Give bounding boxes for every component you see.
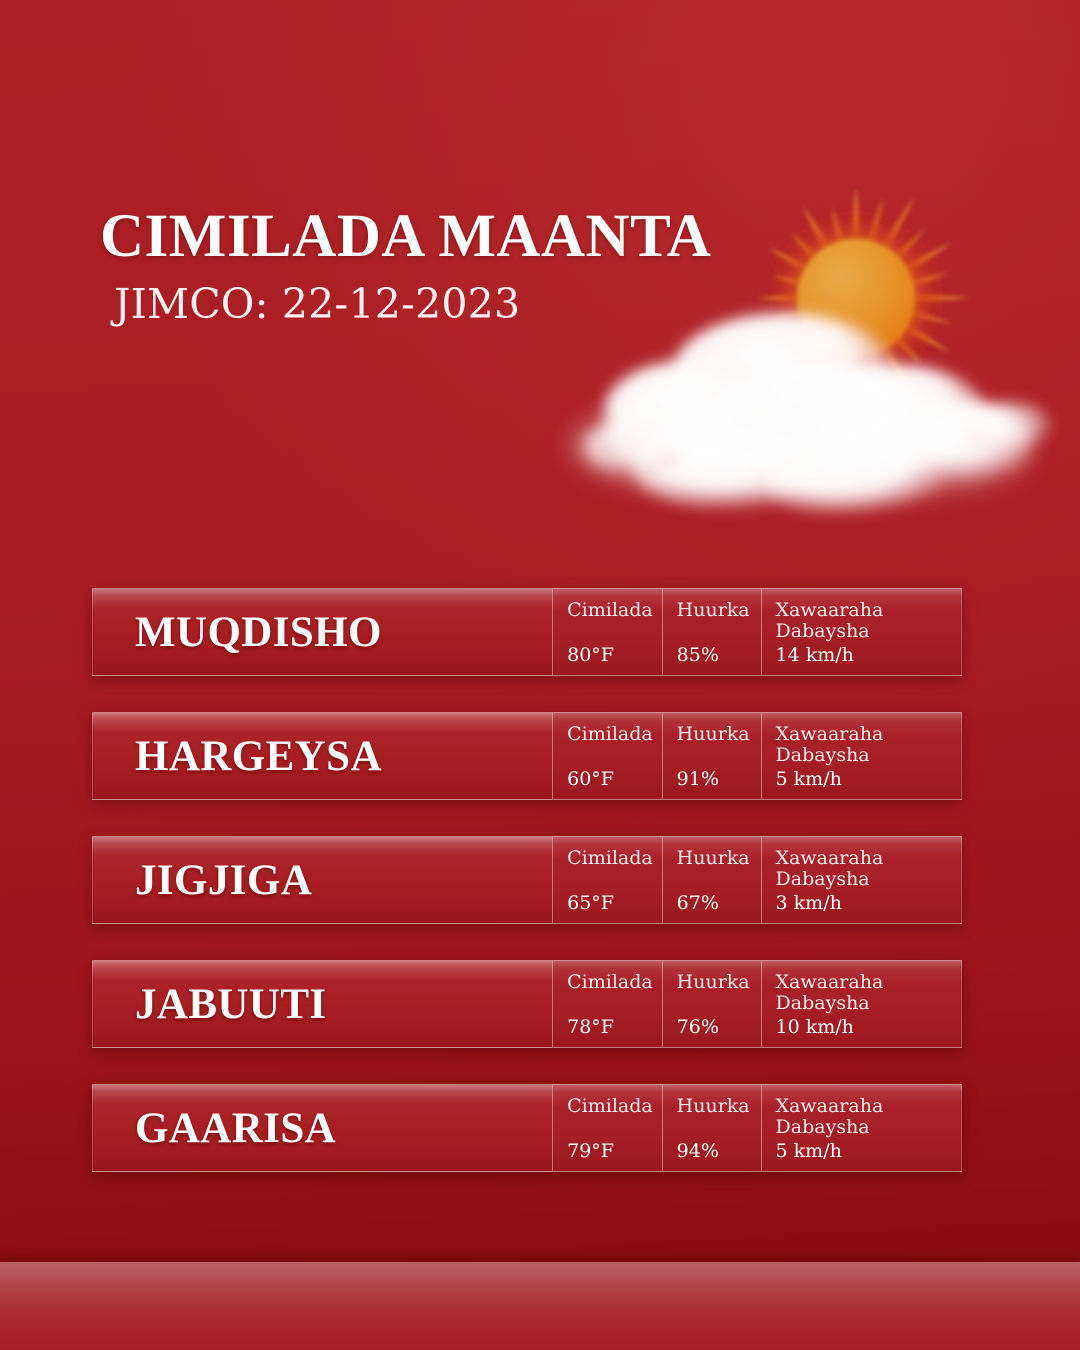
humidity-value: 85% [677,645,761,666]
temperature-cell: Cimilada 78°F [552,961,662,1047]
footer-band [0,1262,1080,1350]
wind-cell: Xawaaraha Dabaysha 3 km/h [761,837,961,923]
temperature-value: 65°F [567,893,662,914]
humidity-label: Huurka [677,848,761,869]
temperature-label: Cimilada [567,1096,662,1117]
wind-value: 10 km/h [776,1017,961,1038]
city-cell: JIGJIGA [92,836,552,924]
temperature-cell: Cimilada 60°F [552,713,662,799]
humidity-value: 67% [677,893,761,914]
weather-table: MUQDISHO Cimilada 80°F Huurka 85% Xawaar… [92,588,962,1172]
temperature-cell: Cimilada 79°F [552,1085,662,1171]
table-row[interactable]: GAARISA Cimilada 79°F Huurka 94% Xawaara… [92,1084,962,1172]
wind-label: Xawaaraha Dabaysha [776,724,961,767]
humidity-cell: Huurka 67% [662,837,761,923]
wind-value: 5 km/h [776,769,961,790]
humidity-value: 76% [677,1017,761,1038]
city-name: MUQDISHO [135,611,382,654]
wind-cell: Xawaaraha Dabaysha 5 km/h [761,713,961,799]
table-row[interactable]: JABUUTI Cimilada 78°F Huurka 76% Xawaara… [92,960,962,1048]
city-cell: GAARISA [92,1084,552,1172]
humidity-label: Huurka [677,600,761,621]
table-row[interactable]: MUQDISHO Cimilada 80°F Huurka 85% Xawaar… [92,588,962,676]
weather-poster: CIMILADA MAANTA JIMCO: 22-12-2023 [0,0,1080,1350]
humidity-cell: Huurka 85% [662,589,761,675]
metrics-group: Cimilada 65°F Huurka 67% Xawaaraha Dabay… [552,836,962,924]
city-name: JABUUTI [135,983,327,1026]
city-cell: HARGEYSA [92,712,552,800]
wind-cell: Xawaaraha Dabaysha 14 km/h [761,589,961,675]
table-row[interactable]: JIGJIGA Cimilada 65°F Huurka 67% Xawaara… [92,836,962,924]
wind-label: Xawaaraha Dabaysha [776,972,961,1015]
temperature-label: Cimilada [567,848,662,869]
page-title: CIMILADA MAANTA [100,205,760,268]
city-name: JIGJIGA [135,859,312,902]
temperature-label: Cimilada [567,972,662,993]
temperature-value: 80°F [567,645,662,666]
city-name: HARGEYSA [135,735,382,778]
temperature-label: Cimilada [567,600,662,621]
temperature-label: Cimilada [567,724,662,745]
humidity-cell: Huurka 76% [662,961,761,1047]
temperature-cell: Cimilada 80°F [552,589,662,675]
temperature-value: 60°F [567,769,662,790]
humidity-label: Huurka [677,1096,761,1117]
wind-cell: Xawaaraha Dabaysha 5 km/h [761,1085,961,1171]
humidity-cell: Huurka 94% [662,1085,761,1171]
table-row[interactable]: HARGEYSA Cimilada 60°F Huurka 91% Xawaar… [92,712,962,800]
wind-label: Xawaaraha Dabaysha [776,848,961,891]
humidity-cell: Huurka 91% [662,713,761,799]
wind-value: 3 km/h [776,893,961,914]
wind-value: 14 km/h [776,645,961,666]
city-cell: MUQDISHO [92,588,552,676]
wind-label: Xawaaraha Dabaysha [776,1096,961,1139]
city-name: GAARISA [135,1107,336,1150]
date-subtitle: JIMCO: 22-12-2023 [114,282,760,327]
humidity-value: 94% [677,1141,761,1162]
humidity-label: Huurka [677,724,761,745]
metrics-group: Cimilada 60°F Huurka 91% Xawaaraha Dabay… [552,712,962,800]
wind-value: 5 km/h [776,1141,961,1162]
metrics-group: Cimilada 78°F Huurka 76% Xawaaraha Dabay… [552,960,962,1048]
temperature-value: 78°F [567,1017,662,1038]
metrics-group: Cimilada 79°F Huurka 94% Xawaaraha Dabay… [552,1084,962,1172]
city-cell: JABUUTI [92,960,552,1048]
wind-label: Xawaaraha Dabaysha [776,600,961,643]
humidity-label: Huurka [677,972,761,993]
temperature-cell: Cimilada 65°F [552,837,662,923]
wind-cell: Xawaaraha Dabaysha 10 km/h [761,961,961,1047]
temperature-value: 79°F [567,1141,662,1162]
poster-header: CIMILADA MAANTA JIMCO: 22-12-2023 [100,205,760,328]
cloud-icon [570,313,1052,516]
metrics-group: Cimilada 80°F Huurka 85% Xawaaraha Dabay… [552,588,962,676]
humidity-value: 91% [677,769,761,790]
